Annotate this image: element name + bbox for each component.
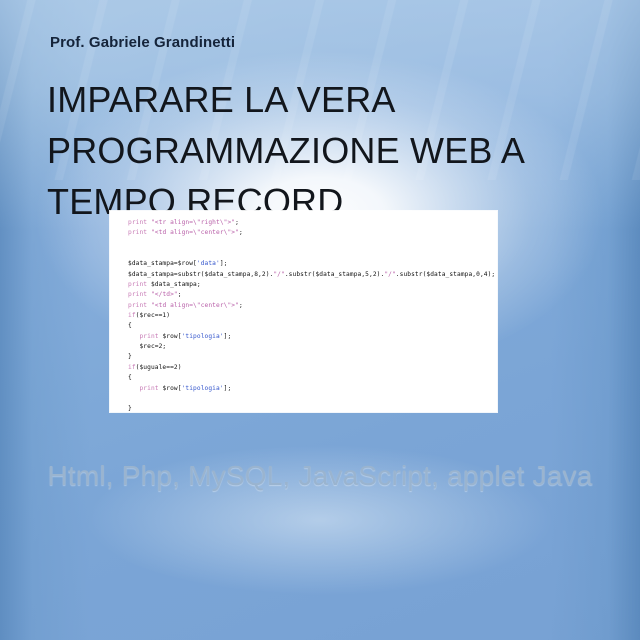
code-line [128, 394, 497, 404]
cover-subtitle: Html, Php, MySQL, JavaScript, applet Jav… [0, 455, 640, 496]
code-line: print $data_stampa; [128, 280, 497, 290]
author-name: Prof. Gabriele Grandinetti [50, 34, 235, 51]
code-line: $data_stampa=$row['data']; [128, 259, 497, 269]
code-line: } [128, 352, 497, 362]
code-line: if($uguale==2) [128, 363, 497, 373]
code-line: print "<tr align=\"right\">"; [128, 218, 497, 228]
page-title: Imparare la vera programmazione web a te… [47, 74, 607, 227]
code-line: print $row['tipologia']; [128, 332, 497, 342]
code-line [128, 249, 497, 259]
code-line: print "<td align=\"center\">"; [128, 228, 497, 238]
code-screenshot-panel: print "<tr align=\"right\">";print "<td … [110, 211, 497, 412]
code-line: { [128, 373, 497, 383]
code-line [128, 239, 497, 249]
book-cover: Prof. Gabriele Grandinetti Imparare la v… [0, 0, 640, 640]
code-line: } [128, 404, 497, 412]
code-line: print "</td>"; [128, 290, 497, 300]
code-line: { [128, 321, 497, 331]
code-line: $data_stampa=substr($data_stampa,8,2)."/… [128, 270, 497, 280]
code-line: if($rec==1) [128, 311, 497, 321]
code-listing: print "<tr align=\"right\">";print "<td … [128, 218, 497, 412]
code-line: print "<td align=\"center\">"; [128, 301, 497, 311]
code-line: $rec=2; [128, 342, 497, 352]
cover-content: Prof. Gabriele Grandinetti Imparare la v… [0, 0, 640, 640]
code-line: print $row['tipologia']; [128, 384, 497, 394]
